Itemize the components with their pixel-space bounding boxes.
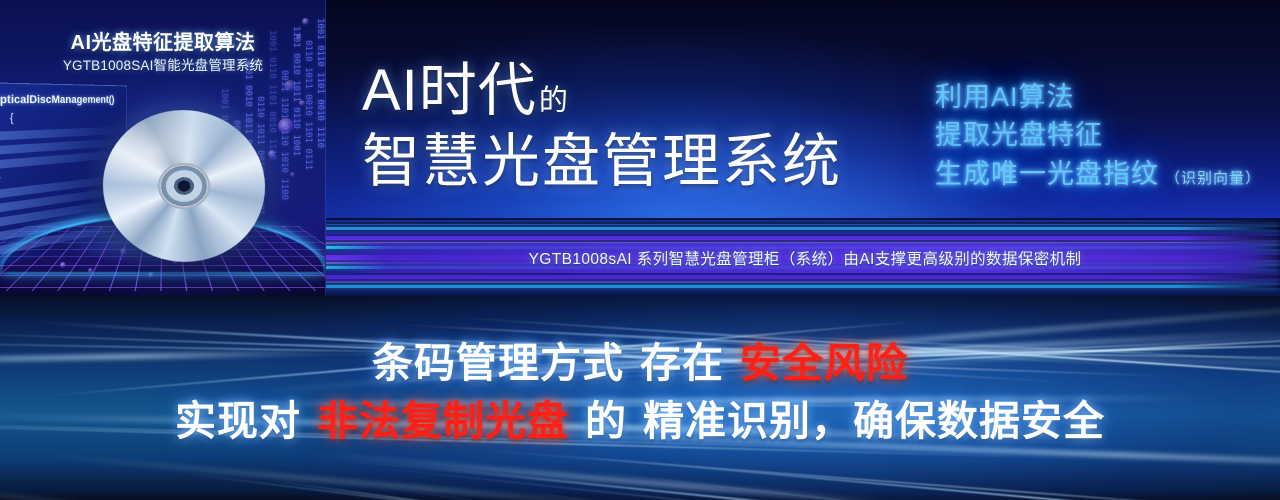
normal-text: 条码管理方式 (372, 340, 624, 386)
feature-item-3-text: 生成唯一光盘指纹 (935, 159, 1159, 189)
feature-item-2: 提取光盘特征 (935, 116, 1261, 154)
normal-text: 精准识别，确保数据安全 (643, 398, 1105, 444)
headline-main-text: AI时代 (362, 62, 537, 120)
highlight-text: 非法复制光盘 (317, 398, 569, 444)
headline-line-2: 智慧光盘管理系统 (362, 130, 842, 195)
subtitle-text: YGTB1008sAI 系列智慧光盘管理柜（系统）由AI支撑更高级别的数据保密机… (529, 247, 1082, 269)
optical-disc (103, 100, 265, 272)
product-panel: 1001 0110 1101 0010 11100110 1011 0010 1… (0, 0, 326, 296)
headline: AI时代 的 智慧光盘管理系统 (362, 62, 842, 195)
feature-item-3: 生成唯一光盘指纹（识别向量） (935, 155, 1261, 193)
top-section: AI时代 的 智慧光盘管理系统 利用AI算法 提取光盘特征 生成唯一光盘指纹（识… (0, 0, 1280, 296)
bottom-message: 条码管理方式存在安全风险 实现对非法复制光盘的精准识别，确保数据安全 (0, 334, 1280, 450)
bottom-message-line-1: 条码管理方式存在安全风险 (0, 334, 1280, 392)
headline-suffix-text: 的 (539, 87, 568, 120)
product-panel-subtitle: YGTB1008SAI智能光盘管理系统 (0, 54, 326, 74)
subtitle-bar: YGTB1008sAI 系列智慧光盘管理柜（系统）由AI支撑更高级别的数据保密机… (330, 243, 1280, 273)
normal-text: 实现对 (175, 398, 301, 444)
product-panel-title: AI光盘特征提取算法 (0, 26, 326, 55)
promo-banner: AI时代 的 智慧光盘管理系统 利用AI算法 提取光盘特征 生成唯一光盘指纹（识… (0, 0, 1280, 500)
bokeh-dot (302, 18, 309, 25)
bottom-message-line-2: 实现对非法复制光盘的精准识别，确保数据安全 (0, 392, 1280, 450)
normal-text: 存在 (640, 340, 724, 386)
normal-text: 的 (585, 398, 627, 444)
feature-item-3-note: （识别向量） (1165, 170, 1261, 187)
headline-line-1: AI时代 的 (362, 62, 842, 120)
highlight-text: 安全风险 (740, 340, 908, 386)
feature-list: 利用AI算法 提取光盘特征 生成唯一光盘指纹（识别向量） (935, 78, 1261, 193)
feature-item-1: 利用AI算法 (935, 78, 1261, 116)
binary-stream: 0011 1101 0110 1010 1100 (276, 70, 289, 210)
